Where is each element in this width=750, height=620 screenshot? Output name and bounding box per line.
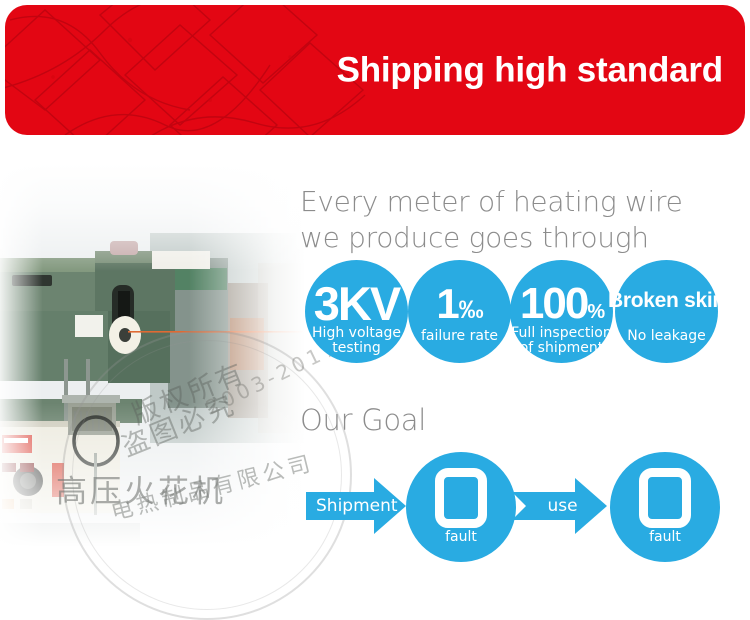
badge-full-inspection: 100% Full inspection of shipment xyxy=(510,260,613,363)
page-header-banner: Shipping high standard xyxy=(5,5,745,135)
badge-caption-line-2: testing xyxy=(299,341,414,357)
intro-heading: Every meter of heating wire we produce g… xyxy=(300,184,730,257)
flow-node-fault-2-label: fault xyxy=(610,530,720,544)
intro-heading-line-1: Every meter of heating wire xyxy=(300,184,730,220)
badge-value-broken-skin: Broken skin xyxy=(599,290,734,311)
badge-value-failure-rate: 1‰ xyxy=(408,283,511,325)
arrow-right-icon xyxy=(512,478,607,534)
badge-caption-line-2: of shipment xyxy=(504,341,619,357)
badge-value-number: 100 xyxy=(520,279,587,328)
badge-caption-line-1: Full inspection xyxy=(504,326,619,342)
quality-badge-group: 3KV High voltage testing 1‰ failure rate… xyxy=(300,260,750,372)
badge-caption-failure-rate: failure rate xyxy=(402,329,517,345)
badge-high-voltage: 3KV High voltage testing xyxy=(305,260,408,363)
badge-value-number: 1 xyxy=(436,280,458,327)
badge-failure-rate: 1‰ failure rate xyxy=(408,260,511,363)
badge-broken-skin: Broken skin No leakage xyxy=(615,260,718,363)
flow-node-fault-2: fault xyxy=(610,452,720,562)
badge-caption-full-inspection: Full inspection of shipment xyxy=(504,326,619,357)
flow-node-fault-1-label: fault xyxy=(406,530,516,544)
arrow-right-icon xyxy=(306,478,406,534)
badge-value-3kv: 3KV xyxy=(297,280,416,327)
rounded-square-icon xyxy=(639,468,691,528)
badge-caption-broken-skin: No leakage xyxy=(609,329,724,345)
flow-arrow-use: use xyxy=(512,478,607,534)
banner-title: Shipping high standard xyxy=(337,53,723,88)
intro-heading-line-2: we produce goes through xyxy=(300,220,730,256)
photo-caption: 高压火花机 xyxy=(56,466,226,511)
rounded-square-icon xyxy=(435,468,487,528)
badge-caption-high-voltage: High voltage testing xyxy=(299,326,414,357)
flow-arrow-shipment: Shipment xyxy=(306,478,406,534)
goal-section-title: Our Goal xyxy=(300,403,426,437)
badge-caption-line-1: High voltage xyxy=(299,326,414,342)
goal-flow-diagram: Shipment fault use fault xyxy=(300,450,750,565)
flow-node-fault-1: fault xyxy=(406,452,516,562)
badge-value-permille-symbol: ‰ xyxy=(459,296,483,324)
